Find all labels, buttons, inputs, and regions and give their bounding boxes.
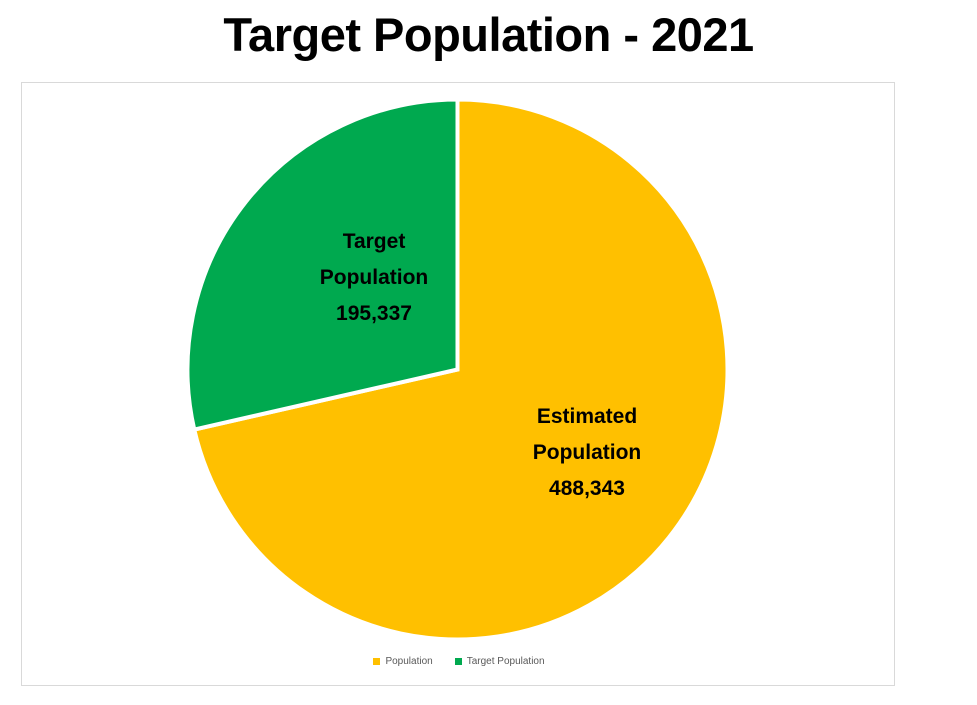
legend-item-label: Target Population <box>467 656 545 667</box>
pie-chart-svg <box>186 98 729 641</box>
legend-item-target-population[interactable]: Target Population <box>455 656 545 667</box>
chart-legend: Population Target Population <box>22 656 896 667</box>
square-marker-icon <box>373 658 380 665</box>
chart-frame: Target Population 195,337 Estimated Popu… <box>21 82 895 686</box>
slide-canvas: Target Population - 2021 Target Populati… <box>0 0 977 705</box>
legend-item-label: Population <box>385 656 432 667</box>
square-marker-icon <box>455 658 462 665</box>
pie-slice-target-population[interactable] <box>188 100 458 430</box>
pie-chart-plot-area: Target Population 195,337 Estimated Popu… <box>22 83 896 687</box>
page-title: Target Population - 2021 <box>0 6 977 64</box>
legend-item-population[interactable]: Population <box>373 656 432 667</box>
